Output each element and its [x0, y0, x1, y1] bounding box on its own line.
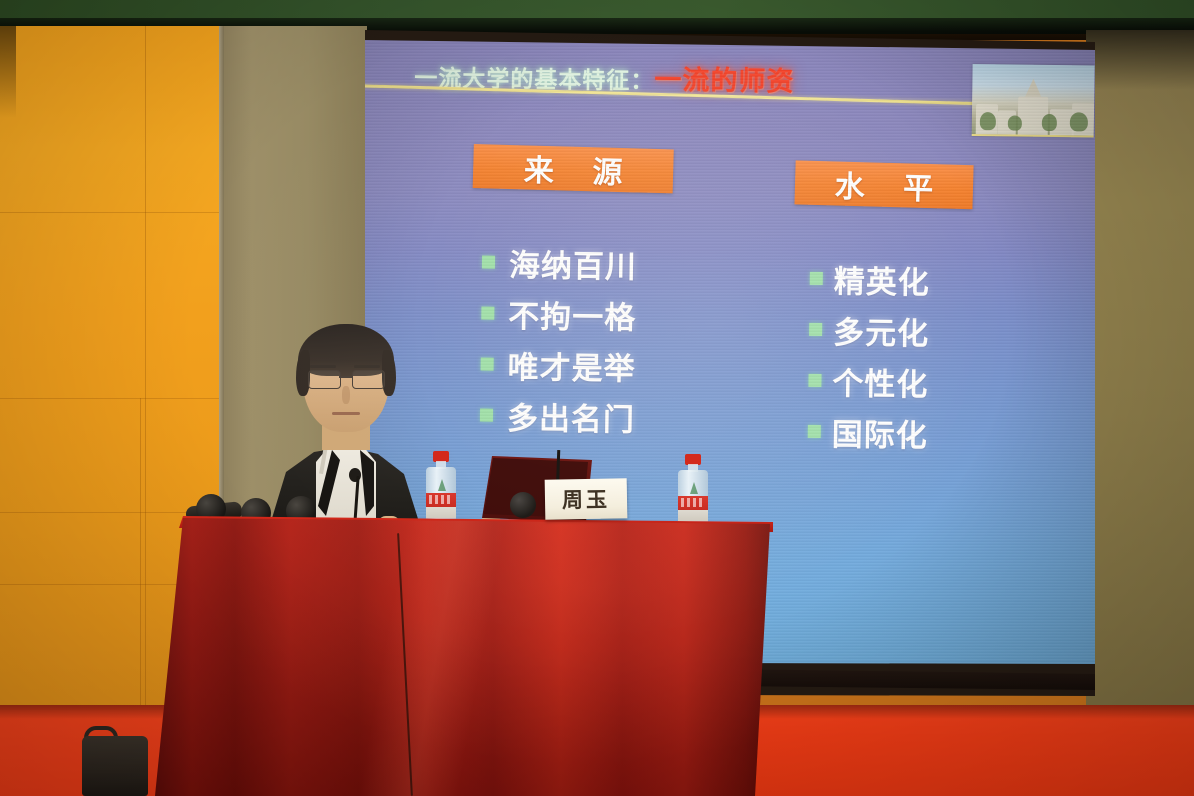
hair	[298, 324, 394, 376]
list-item: 不拘一格	[481, 291, 637, 338]
list-item: 个性化	[808, 358, 929, 405]
bullet-square-icon	[810, 272, 823, 285]
list-item: 多出名门	[480, 393, 636, 440]
bullet-square-icon	[809, 323, 822, 336]
microphone-right	[510, 492, 536, 518]
glasses-bridge	[339, 376, 352, 378]
bullet-square-icon	[808, 374, 821, 387]
bullet-square-icon	[482, 256, 495, 269]
bullet-list-level: 精英化 多元化 个性化 国际化	[807, 256, 930, 462]
bullet-square-icon	[808, 425, 821, 438]
water-bottle	[678, 454, 708, 529]
list-item: 唯才是举	[480, 342, 636, 389]
bullet-square-icon	[481, 358, 494, 371]
floor-bag	[82, 736, 148, 796]
column-header-source-label: 来 源	[509, 145, 637, 192]
photo-scene: 一流大学的基本特征：一流的师资 来 源	[0, 0, 1194, 796]
bullet-text: 多出名门	[507, 393, 636, 440]
nose	[342, 386, 350, 404]
bullet-square-icon	[480, 409, 493, 422]
column-header-level: 水 平	[794, 160, 973, 209]
lens-right	[352, 370, 385, 389]
mouth	[332, 412, 360, 415]
right-olive-wall	[1086, 30, 1194, 720]
name-placard: 周玉	[545, 478, 628, 519]
water-bottle	[426, 451, 456, 526]
column-header-source: 来 源	[473, 144, 674, 193]
list-item: 海纳百川	[482, 240, 638, 287]
list-item: 多元化	[809, 307, 930, 354]
lens-left	[308, 370, 341, 389]
bullet-text: 不拘一格	[508, 291, 637, 338]
seated-speaker	[248, 328, 438, 528]
campus-building-photo	[972, 64, 1095, 138]
bullet-square-icon	[481, 307, 494, 320]
table-red-velvet-cloth	[155, 518, 770, 796]
list-item: 精英化	[810, 256, 931, 303]
column-header-level-label: 水 平	[820, 161, 948, 208]
name-placard-text: 周玉	[562, 484, 611, 515]
bullet-text: 海纳百川	[509, 240, 638, 287]
bullet-text: 国际化	[832, 409, 929, 455]
right-wall-shadow	[1086, 30, 1194, 90]
bullet-list-source: 海纳百川 不拘一格 唯才是举 多出名门	[480, 240, 638, 446]
eyebrow-left	[310, 365, 336, 368]
bullet-text: 个性化	[832, 358, 929, 404]
bottle-label-text	[429, 495, 453, 504]
left-wall-shadow	[0, 26, 16, 118]
bullet-text: 唯才是举	[507, 342, 636, 389]
bullet-text: 多元化	[833, 307, 930, 353]
bottle-label-text	[681, 498, 705, 507]
bullet-text: 精英化	[834, 256, 931, 302]
eyebrow-right	[354, 365, 380, 368]
list-item: 国际化	[808, 409, 929, 456]
